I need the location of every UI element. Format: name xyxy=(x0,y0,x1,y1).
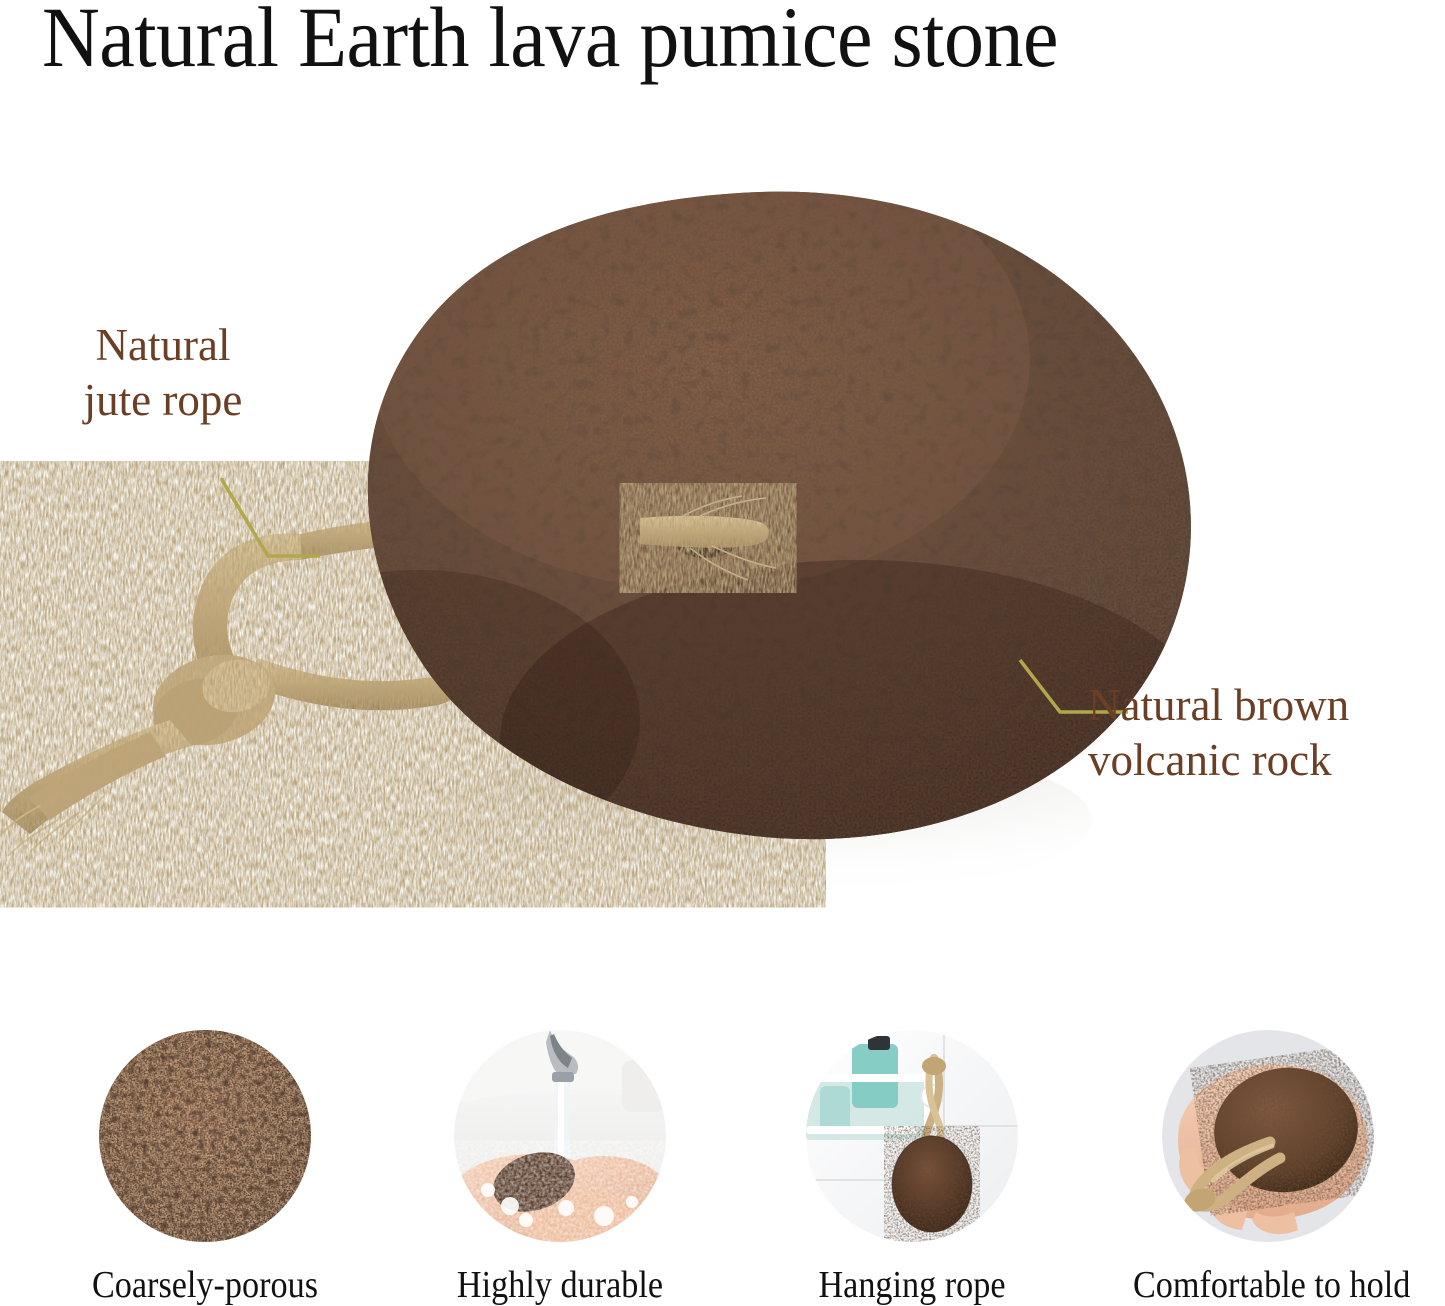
feature-caption-comfortable-to-hold: Comfortable to hold xyxy=(1133,1266,1403,1304)
feature-item-hanging-rope: Hanging rope xyxy=(762,1012,1062,1304)
feature-caption-highly-durable: Highly durable xyxy=(425,1266,695,1304)
thumbnail-coarsely-porous xyxy=(99,1030,311,1242)
thumbnail-hanging-rope xyxy=(806,1030,1018,1242)
thumbnail-highly-durable xyxy=(454,1030,666,1242)
feature-caption-hanging-rope: Hanging rope xyxy=(777,1266,1047,1304)
feature-item-comfortable-to-hold: Comfortable to hold xyxy=(1118,1012,1418,1304)
feature-item-highly-durable: Highly durable xyxy=(410,1012,710,1304)
page-title: Natural Earth lava pumice stone xyxy=(42,0,1058,80)
feature-row: Coarsely-porous xyxy=(0,1012,1445,1302)
feature-item-coarsely-porous: Coarsely-porous xyxy=(55,1012,355,1304)
feature-caption-coarsely-porous: Coarsely-porous xyxy=(70,1266,340,1304)
callout-label-volcanic-rock: Natural brown volcanic rock xyxy=(1088,678,1438,788)
callout-label-jute-rope: Natural jute rope xyxy=(34,318,292,428)
product-hero-image xyxy=(0,120,1445,920)
thumbnail-comfortable-to-hold xyxy=(1162,1030,1374,1242)
